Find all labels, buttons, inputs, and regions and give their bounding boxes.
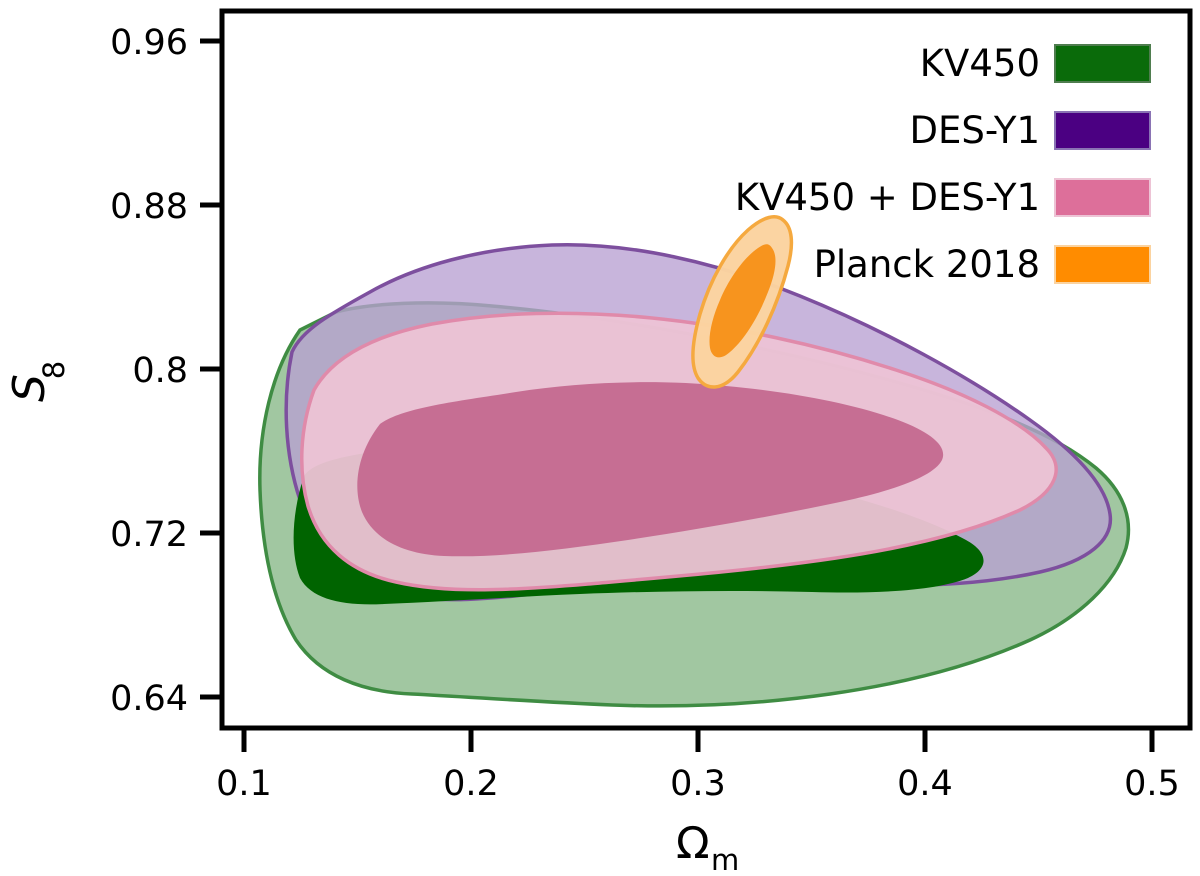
y-tick-label-2: 0.8 [132,351,188,391]
x-tick-label-4: 0.5 [1124,764,1180,804]
legend-item-desy1[interactable]: DES-Y1 [910,109,1150,152]
y-axis-title: S 8 [4,361,71,402]
legend-label-planck: Planck 2018 [814,243,1040,286]
x-axis-title-main: Ω [676,818,710,869]
y-axis-ticks [200,41,222,697]
x-tick-label-1: 0.2 [443,764,499,804]
legend-label-desy1: DES-Y1 [910,109,1040,152]
y-tick-label-0: 0.96 [110,23,188,63]
x-axis-title-sub: m [711,843,739,876]
legend-swatch-kv450 [1055,45,1150,82]
figure-root: 0.96 0.88 0.8 0.72 0.64 0.1 0.2 0.3 0.4 … [0,0,1200,876]
x-axis-title: Ω m [676,818,739,876]
y-tick-label-3: 0.72 [110,515,188,555]
x-axis-ticks [244,728,1152,752]
legend-item-kv450-desy1[interactable]: KV450 + DES-Y1 [735,176,1150,219]
contour-plot-figure: 0.96 0.88 0.8 0.72 0.64 0.1 0.2 0.3 0.4 … [0,0,1200,876]
legend-item-planck[interactable]: Planck 2018 [814,243,1150,286]
y-axis-title-sub: 8 [37,361,71,379]
x-tick-label-2: 0.3 [670,764,726,804]
y-tick-label-1: 0.88 [110,187,188,227]
x-tick-label-3: 0.4 [897,764,953,804]
legend-swatch-planck [1055,246,1150,283]
y-tick-label-4: 0.64 [110,679,188,719]
legend-item-kv450[interactable]: KV450 [920,42,1150,85]
legend-label-kv450: KV450 [920,42,1040,85]
x-tick-label-0: 0.1 [216,764,272,804]
legend-label-kv450-desy1: KV450 + DES-Y1 [735,176,1040,219]
legend-swatch-desy1 [1055,112,1150,149]
legend-swatch-kv450-desy1 [1055,179,1150,216]
